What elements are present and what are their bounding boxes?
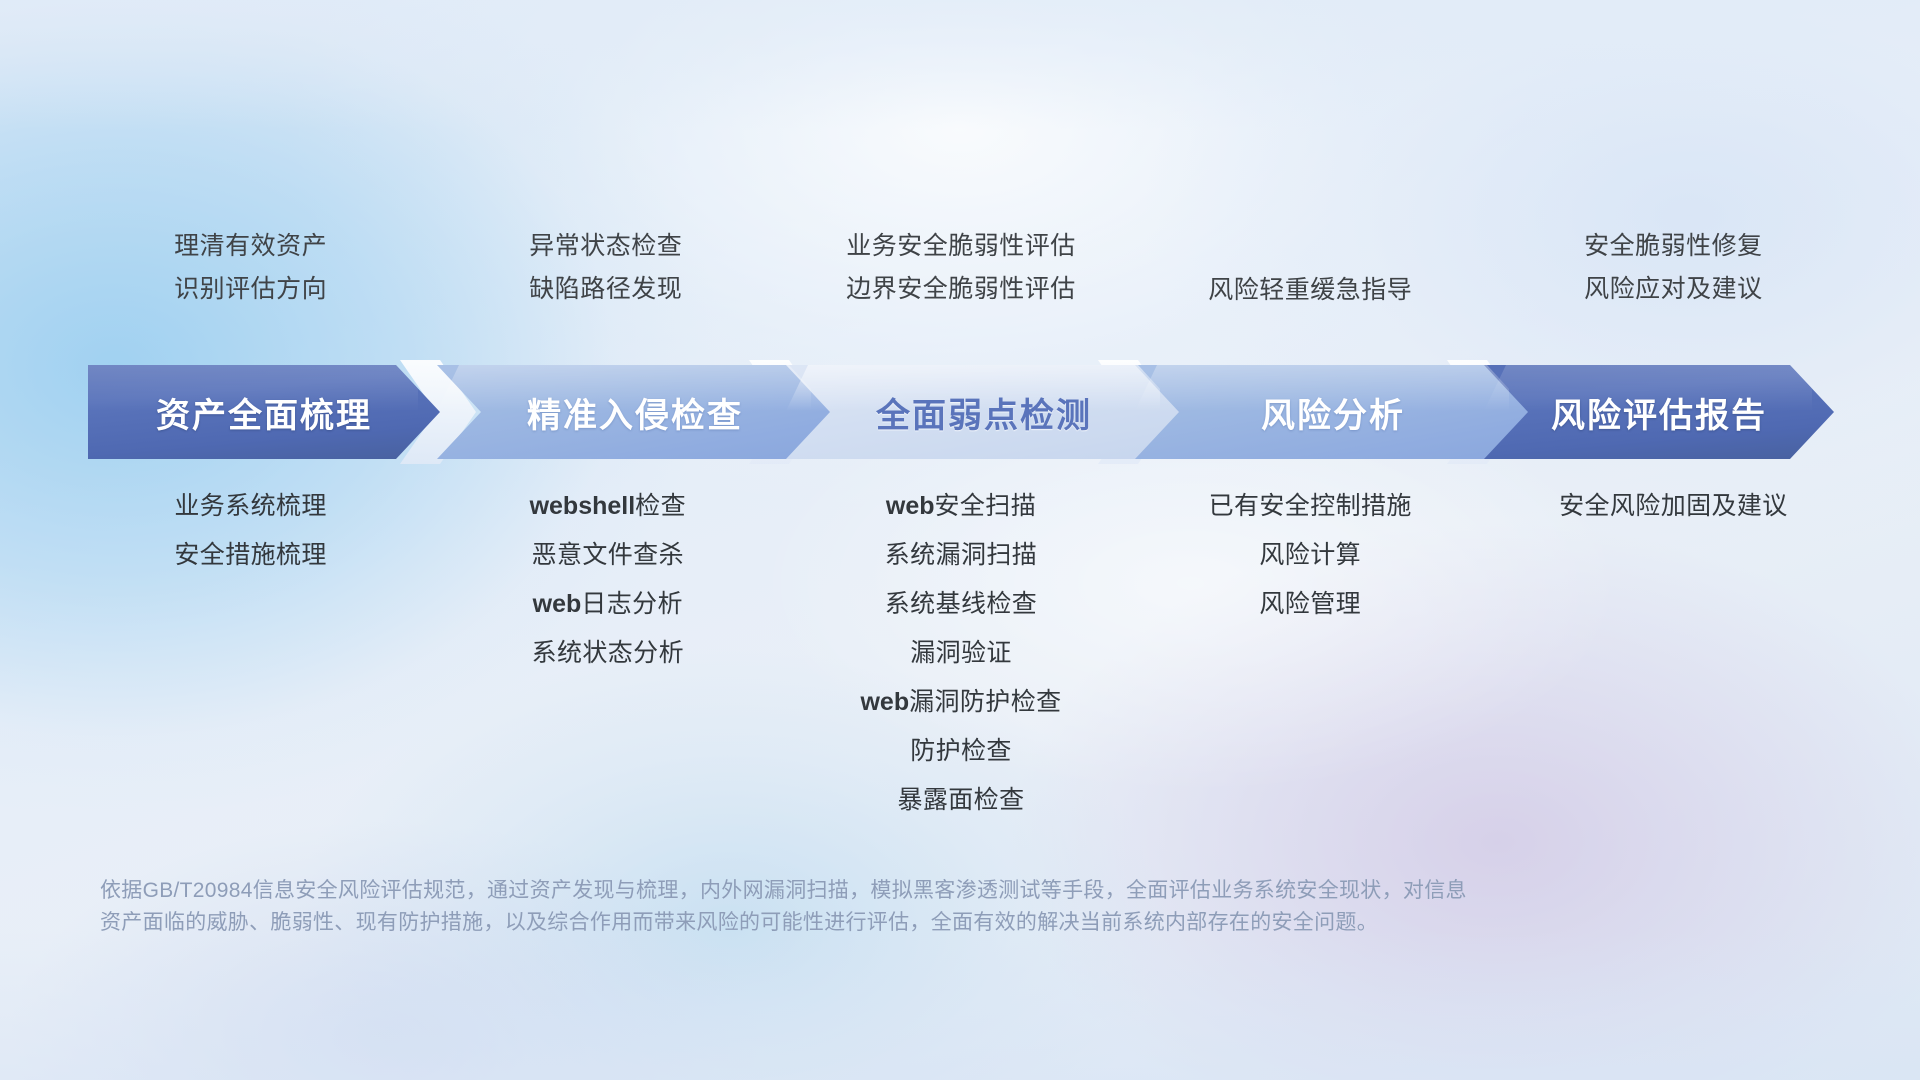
- top-note: 安全脆弱性修复: [1584, 232, 1763, 261]
- list-item: 已有安全控制措施: [1209, 482, 1412, 531]
- chevron-label: 全面弱点检测: [876, 388, 1092, 437]
- top-notes-intrusion-check: 异常状态检查 缺陷路径发现: [431, 232, 780, 322]
- chevron-label: 风险评估报告: [1551, 388, 1767, 437]
- footer-description: 依据GB/T20984信息安全风险评估规范，通过资产发现与梳理，内外网漏洞扫描，…: [100, 875, 1740, 939]
- list-item: 系统基线检查: [885, 580, 1037, 629]
- top-notes-risk-report: 安全脆弱性修复 风险应对及建议: [1499, 232, 1848, 322]
- items-risk-report: 安全风险加固及建议: [1499, 482, 1848, 531]
- top-note: 风险应对及建议: [1584, 275, 1763, 304]
- top-note: 缺陷路径发现: [529, 275, 682, 304]
- list-item: 风险管理: [1259, 580, 1361, 629]
- top-note: 异常状态检查: [529, 232, 682, 261]
- items-asset-inventory: 业务系统梳理 安全措施梳理: [76, 482, 425, 580]
- list-item: web日志分析: [533, 580, 683, 629]
- top-note: 边界安全脆弱性评估: [846, 275, 1076, 304]
- chevron-stage-risk-report[interactable]: 风险评估报告: [1484, 365, 1834, 459]
- top-notes-asset-inventory: 理清有效资产 识别评估方向: [76, 232, 425, 322]
- items-intrusion-check: webshell检查 恶意文件查杀 web日志分析 系统状态分析: [433, 482, 782, 678]
- footer-line-2: 资产面临的威胁、脆弱性、现有防护措施，以及综合作用而带来风险的可能性进行评估，全…: [100, 907, 1740, 939]
- list-item: 系统漏洞扫描: [885, 531, 1037, 580]
- chevron-label: 资产全面梳理: [156, 388, 372, 437]
- list-item: 风险计算: [1259, 531, 1361, 580]
- list-item: 业务系统梳理: [174, 482, 326, 531]
- chevron-stage-asset-inventory[interactable]: 资产全面梳理: [88, 365, 440, 459]
- top-note: 风险轻重缓急指导: [1208, 276, 1412, 305]
- list-item: 安全措施梳理: [174, 531, 326, 580]
- items-weakness-detection: web安全扫描 系统漏洞扫描 系统基线检查 漏洞验证 web漏洞防护检查 防护检…: [786, 482, 1135, 825]
- items-risk-analysis: 已有安全控制措施 风险计算 风险管理: [1136, 482, 1485, 629]
- top-note: 理清有效资产: [174, 232, 327, 261]
- top-notes-risk-analysis: 风险轻重缓急指导: [1136, 232, 1485, 322]
- list-item: 防护检查: [910, 727, 1012, 776]
- process-chevron-band: 资产全面梳理 精准入侵检查 全面弱点检测 风险分析: [88, 365, 1834, 459]
- list-item: 漏洞验证: [910, 629, 1012, 678]
- top-notes-weakness-detection: 业务安全脆弱性评估 边界安全脆弱性评估: [786, 232, 1135, 322]
- list-item: 安全风险加固及建议: [1559, 482, 1788, 531]
- list-item: 系统状态分析: [532, 629, 684, 678]
- chevron-stage-risk-analysis[interactable]: 风险分析: [1135, 365, 1531, 459]
- list-item: web安全扫描: [886, 482, 1036, 531]
- chevron-label: 精准入侵检查: [527, 388, 743, 437]
- list-item: web漏洞防护检查: [860, 678, 1061, 727]
- footer-line-1: 依据GB/T20984信息安全风险评估规范，通过资产发现与梳理，内外网漏洞扫描，…: [100, 875, 1740, 907]
- chevron-label: 风险分析: [1261, 388, 1405, 437]
- list-item: 暴露面检查: [897, 776, 1024, 825]
- chevron-stage-weakness-detection[interactable]: 全面弱点检测: [786, 365, 1182, 459]
- list-item: 恶意文件查杀: [532, 531, 684, 580]
- slide-canvas: 理清有效资产 识别评估方向 异常状态检查 缺陷路径发现 业务安全脆弱性评估 边界…: [0, 0, 1920, 1080]
- chevron-stage-intrusion-check[interactable]: 精准入侵检查: [437, 365, 833, 459]
- top-note: 业务安全脆弱性评估: [846, 232, 1076, 261]
- list-item: webshell检查: [530, 482, 686, 531]
- top-annotations-row: 理清有效资产 识别评估方向 异常状态检查 缺陷路径发现 业务安全脆弱性评估 边界…: [88, 232, 1834, 322]
- bottom-items-row: 业务系统梳理 安全措施梳理 webshell检查 恶意文件查杀 web日志分析 …: [88, 482, 1834, 825]
- top-note: 识别评估方向: [174, 275, 327, 304]
